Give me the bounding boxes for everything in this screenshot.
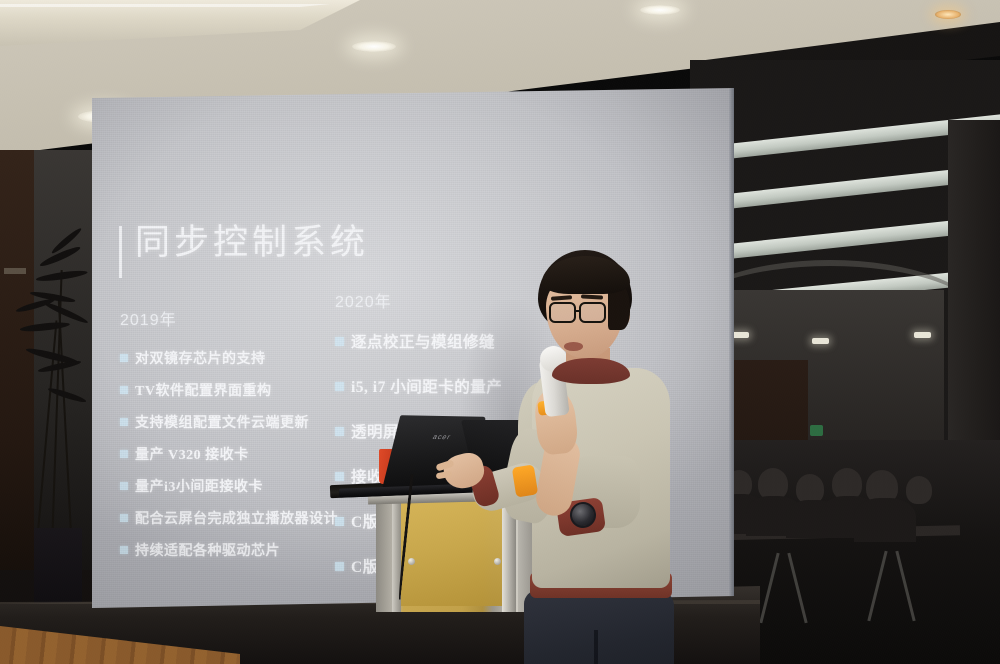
- glasses-icon: [579, 302, 606, 323]
- screen-right-edge: [729, 88, 734, 608]
- ceiling-downlight-icon: [352, 41, 396, 52]
- glasses-icon: [549, 302, 576, 323]
- presentation-photo-scene: 同步控制系统 2019年 对双镜存芯片的支持 TV软件配置界面重构: [0, 0, 1000, 664]
- bullet-square-icon: [335, 472, 344, 481]
- ceiling-downlight-icon: [640, 5, 680, 15]
- podium-bolt: [408, 558, 415, 565]
- warm-spotlight-icon: [935, 10, 961, 19]
- chair-leg: [895, 551, 915, 622]
- presenter-collar: [552, 358, 630, 384]
- chair-leg: [759, 553, 779, 624]
- list-item-label: 配合云屏台完成独立播放器设计: [135, 508, 338, 528]
- list-item-label: 持续适配各种驱动芯片: [135, 540, 280, 560]
- list-item-label: TV软件配置界面重构: [135, 380, 271, 400]
- bullet-square-icon: [120, 354, 128, 362]
- bullet-square-icon: [120, 546, 128, 554]
- column-year-label: 2019年: [120, 306, 370, 330]
- cornice-highlight: [0, 4, 330, 7]
- audience-member: [854, 498, 916, 542]
- page-title: 同步控制系统: [135, 224, 369, 263]
- title-accent-bar: [119, 226, 122, 278]
- microphone-base: [512, 464, 538, 497]
- audience-member: [906, 476, 932, 504]
- bullet-square-icon: [335, 382, 344, 391]
- wall-spotlight-icon: [812, 338, 829, 344]
- list-item: 支持模组配置文件云端更新: [120, 412, 370, 432]
- left-dark-wall: [0, 150, 98, 664]
- wall-plaque: [4, 268, 26, 274]
- list-item-label: 对双镜存芯片的支持: [135, 348, 266, 368]
- list-item: 持续适配各种驱动芯片: [120, 540, 370, 560]
- wall-spotlight-icon: [732, 332, 749, 338]
- bullet-square-icon: [120, 450, 128, 458]
- presenter-mouth: [564, 342, 583, 351]
- list-item: 对双镜存芯片的支持: [120, 348, 370, 368]
- list-item: 量产 V320 接收卡: [120, 444, 370, 464]
- list-item-label: 支持模组配置文件云端更新: [135, 412, 309, 432]
- bullet-square-icon: [120, 418, 128, 426]
- bullet-square-icon: [120, 482, 128, 490]
- bullet-square-icon: [120, 514, 128, 522]
- glasses-bridge: [576, 310, 581, 312]
- bullet-square-icon: [120, 386, 128, 394]
- list-item-label: 量产i3小间距接收卡: [135, 476, 263, 496]
- slide-title-block: 同步控制系统: [119, 224, 369, 278]
- presenter-trousers: [524, 590, 674, 664]
- bullet-square-icon: [335, 562, 344, 571]
- laptop-brand-logo: acer: [431, 434, 452, 441]
- slide-column-2019: 2019年 对双镜存芯片的支持 TV软件配置界面重构 支持模组配置文件云端更新: [120, 306, 370, 572]
- bullet-square-icon: [335, 337, 344, 346]
- left-wood-panel: [0, 150, 34, 570]
- bullet-square-icon: [335, 517, 344, 526]
- wall-spotlight-icon: [914, 332, 931, 338]
- chair-leg: [787, 553, 807, 624]
- list-item-label: 量产 V320 接收卡: [135, 444, 249, 464]
- presenter: [466, 250, 696, 664]
- list-item: TV软件配置界面重构: [120, 380, 370, 400]
- chair-leg: [867, 551, 887, 622]
- bullet-square-icon: [335, 427, 344, 436]
- list-item: 配合云屏台完成独立播放器设计: [120, 508, 370, 528]
- trouser-seam: [594, 630, 598, 664]
- exit-sign-icon: [810, 425, 823, 436]
